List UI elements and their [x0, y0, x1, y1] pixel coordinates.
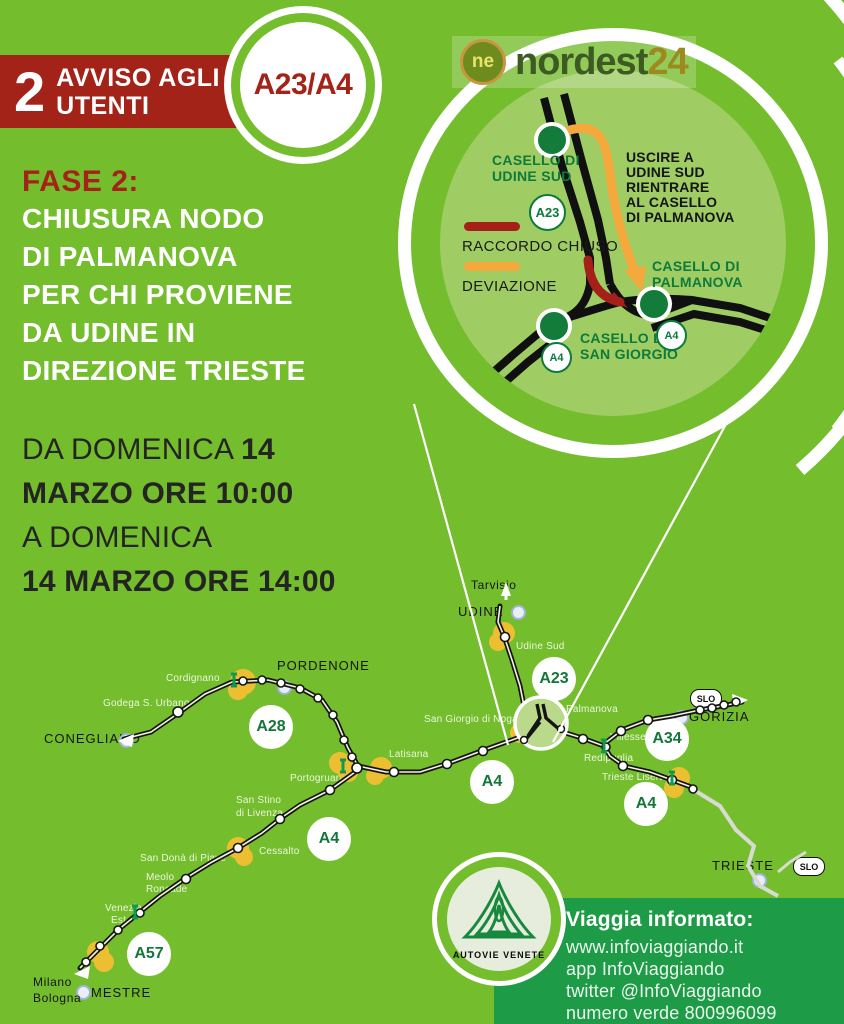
nordest24-wordmark: nordest — [515, 41, 647, 84]
lens-note-line-1: USCIRE A — [626, 150, 776, 165]
lens-label-palmanova-1: CASELLO DI — [652, 258, 743, 274]
legend-label-deviazione: DEVIAZIONE — [462, 278, 557, 295]
footer-phone: numero verde 800996099 — [566, 1002, 777, 1024]
footer-contact-list: www.infoviaggiando.it app InfoViaggiando… — [566, 936, 777, 1024]
footer-twitter[interactable]: twitter @InfoViaggiando — [566, 980, 777, 1002]
autovie-venete-logo-inner: AUTOVIE VENETE — [447, 867, 551, 971]
lens-instruction-note: USCIRE A UDINE SUD RIENTRARE AL CASELLO … — [626, 150, 776, 225]
lens-node-palmanova — [636, 286, 672, 322]
footer-app: app InfoViaggiando — [566, 958, 777, 980]
footer-title: Viaggia informato: — [566, 908, 754, 932]
legend-swatch-raccordo-chiuso — [464, 222, 520, 231]
legend-label-raccordo-chiuso: RACCORDO CHIUSO — [462, 238, 618, 255]
detail-lens: CASELLO DI UDINE SUD CASELLO DI PALMANOV… — [398, 28, 828, 458]
lens-label-udine-sud: CASELLO DI UDINE SUD — [492, 152, 580, 184]
nordest24-logo: ne nordest 24 — [452, 36, 696, 88]
nordest24-mark-icon: ne — [460, 39, 506, 85]
poster-root: PORDENONE CONEGLIANO MESTRE Milano Bolog… — [0, 0, 844, 1024]
lens-note-line-2: UDINE SUD — [626, 165, 776, 180]
lens-shield-a4-left: A4 — [541, 342, 572, 373]
lens-label-palmanova-2: PALMANOVA — [652, 274, 743, 290]
road-badge-a23-a4: A23/A4 — [240, 22, 366, 148]
lens-shield-a4-right: A4 — [656, 320, 687, 351]
autovie-venete-logo: AUTOVIE VENETE — [432, 852, 566, 986]
footer-website[interactable]: www.infoviaggiando.it — [566, 936, 777, 958]
road-badge-label: A23/A4 — [254, 68, 353, 102]
lens-label-udine-sud-1: CASELLO DI — [492, 152, 580, 168]
lens-label-palmanova: CASELLO DI PALMANOVA — [652, 258, 743, 290]
legend-swatch-deviazione — [464, 262, 520, 271]
autovie-venete-spire-icon — [461, 879, 537, 949]
lens-label-udine-sud-2: UDINE SUD — [492, 168, 580, 184]
lens-note-line-5: DI PALMANOVA — [626, 210, 776, 225]
nordest24-number: 24 — [647, 41, 687, 84]
lens-note-line-3: RIENTRARE — [626, 180, 776, 195]
lens-node-san-giorgio — [536, 308, 572, 344]
lens-map-detail: CASELLO DI UDINE SUD CASELLO DI PALMANOV… — [440, 70, 786, 416]
lens-shield-a23: A23 — [529, 194, 566, 231]
autovie-venete-wordmark: AUTOVIE VENETE — [453, 950, 545, 960]
lens-note-line-4: AL CASELLO — [626, 195, 776, 210]
